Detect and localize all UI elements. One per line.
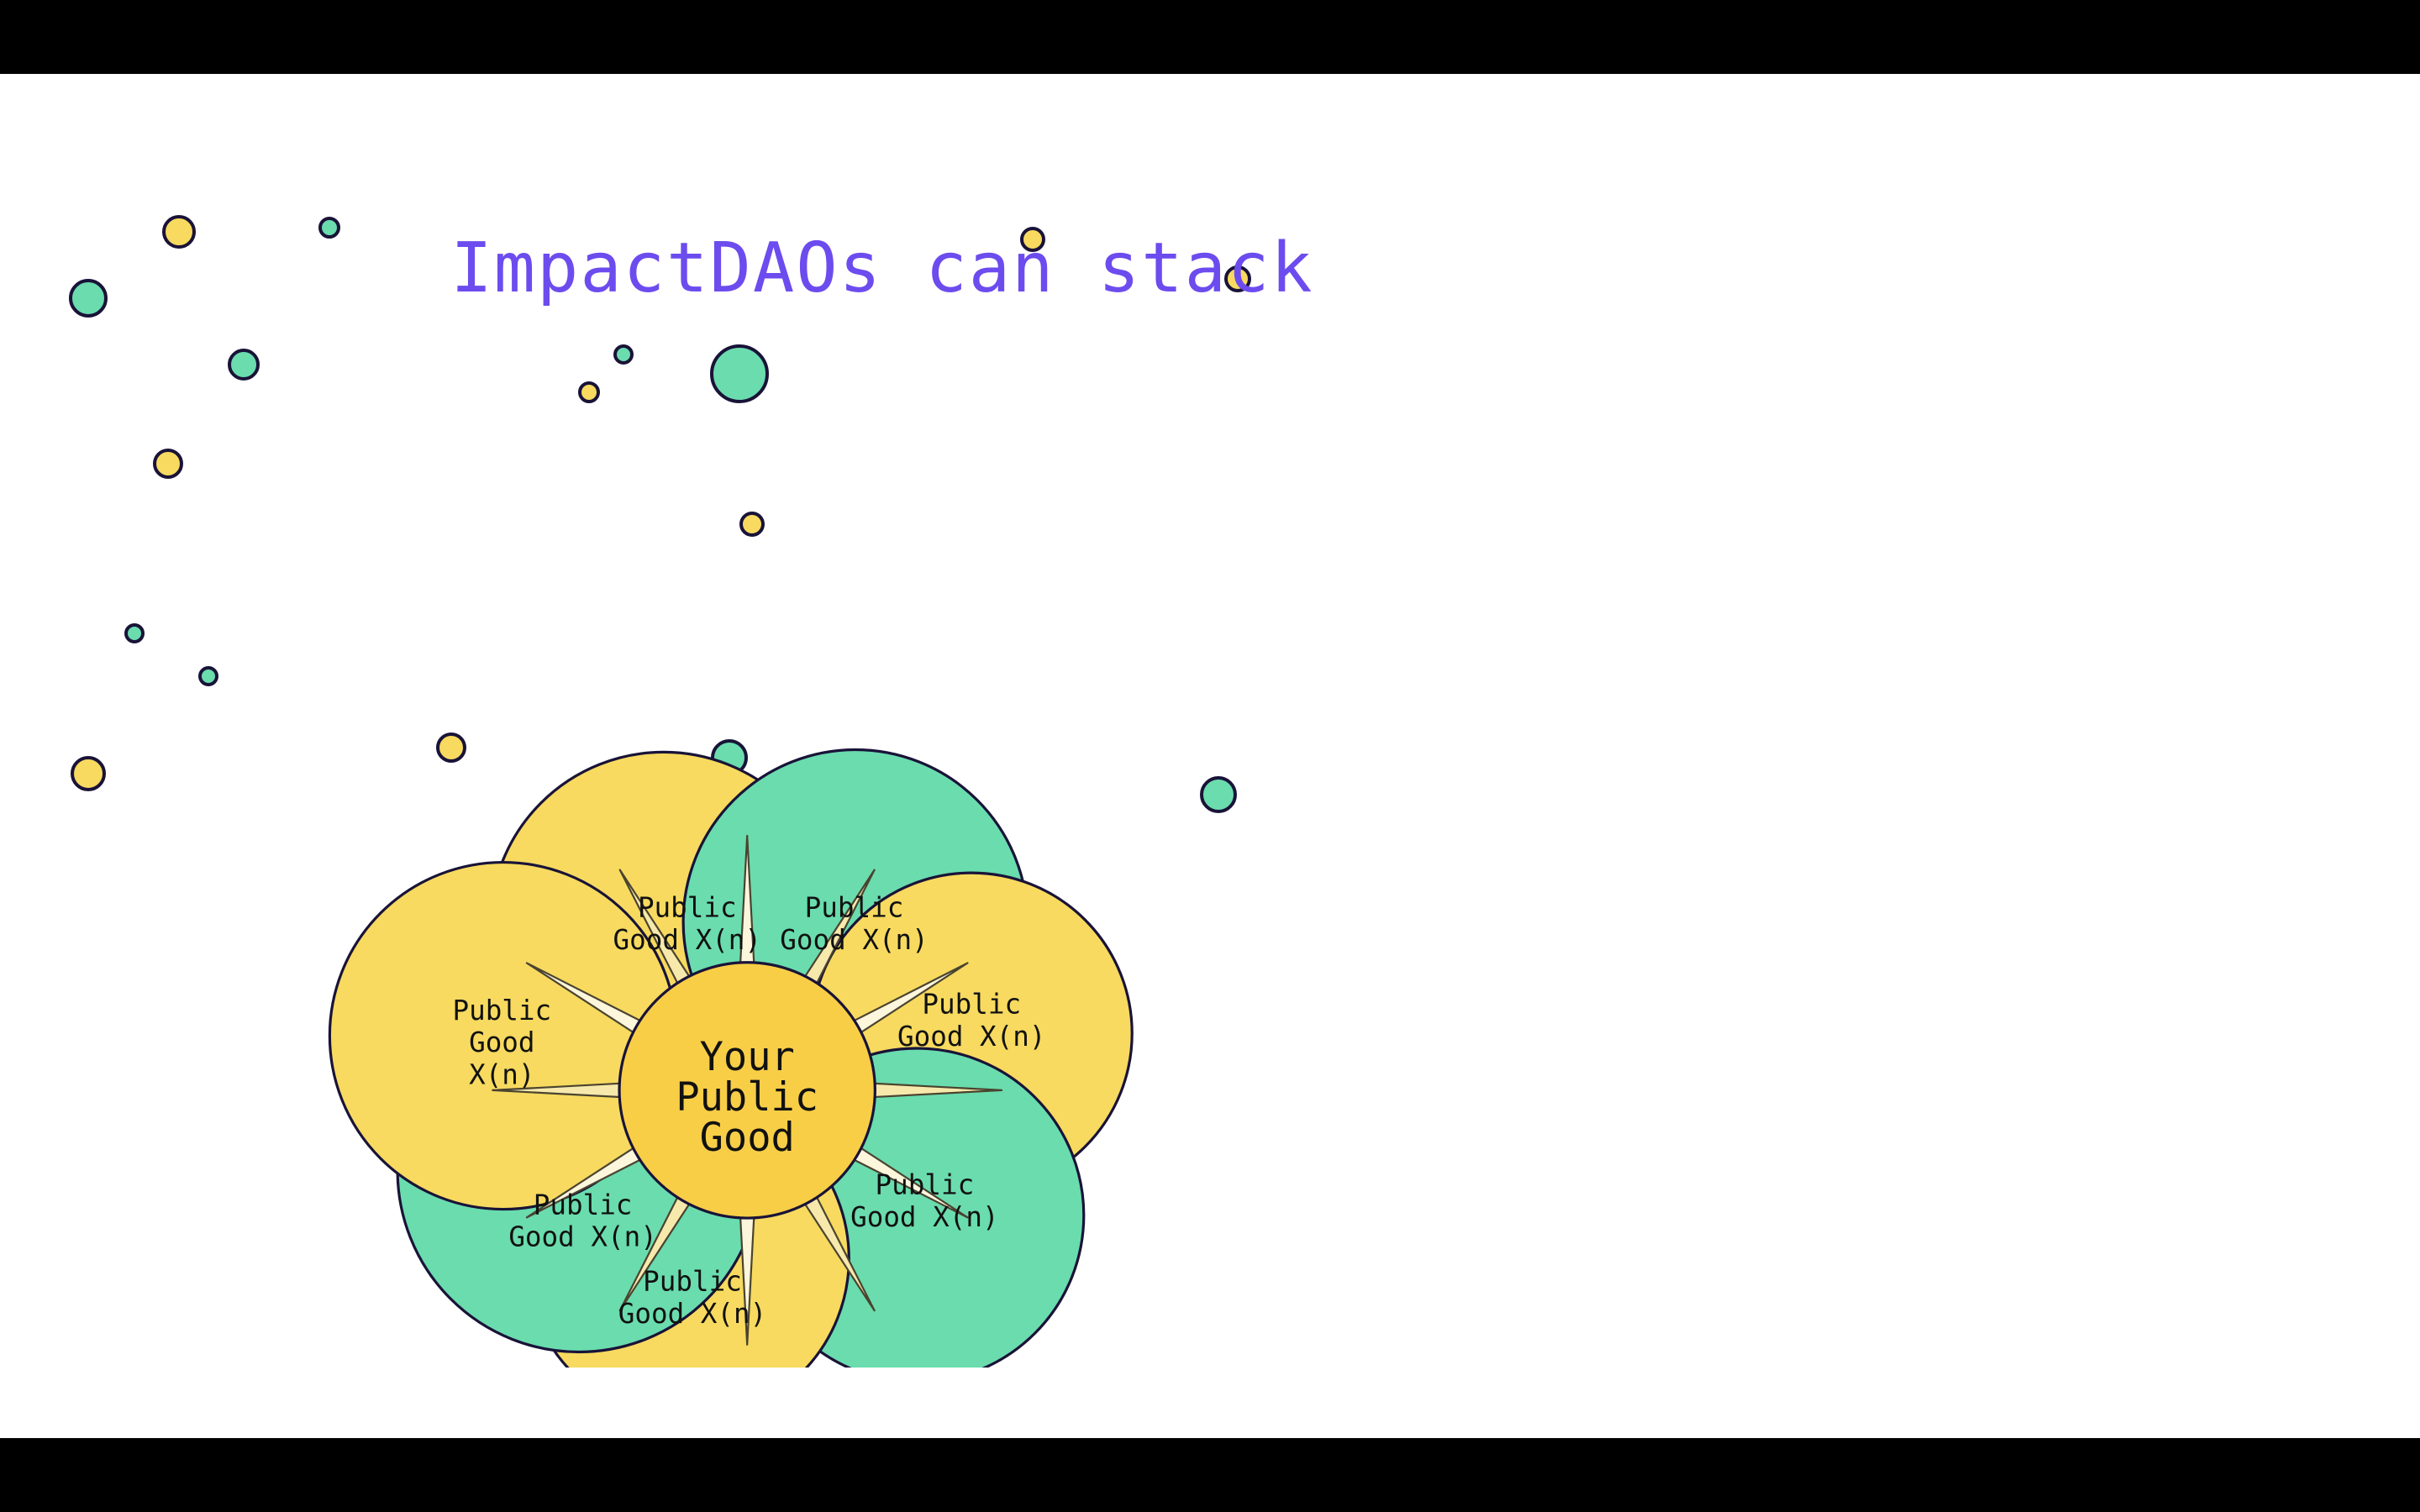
page-title: ImpactDAOs can stack — [0, 228, 2092, 308]
center-circle-layer: YourPublicGood — [619, 963, 875, 1218]
slide-canvas: ImpactDAOs can stack PublicGood X(n)Publ… — [0, 74, 2420, 1438]
letterbox-bottom-bar — [0, 1438, 2420, 1512]
decorative-dot — [613, 344, 634, 365]
letterbox-top-bar — [0, 0, 2420, 74]
decorative-dot — [71, 756, 106, 791]
decorative-dot — [228, 349, 260, 381]
decorative-dot — [124, 623, 145, 643]
decorative-dot — [578, 381, 600, 403]
decorative-dot — [710, 344, 769, 403]
impactdao-flower-diagram: PublicGood X(n)PublicGood X(n)PublicGood… — [147, 427, 1139, 1368]
decorative-dot — [1200, 776, 1237, 813]
slide-stage: ImpactDAOs can stack PublicGood X(n)Publ… — [0, 0, 2420, 1512]
